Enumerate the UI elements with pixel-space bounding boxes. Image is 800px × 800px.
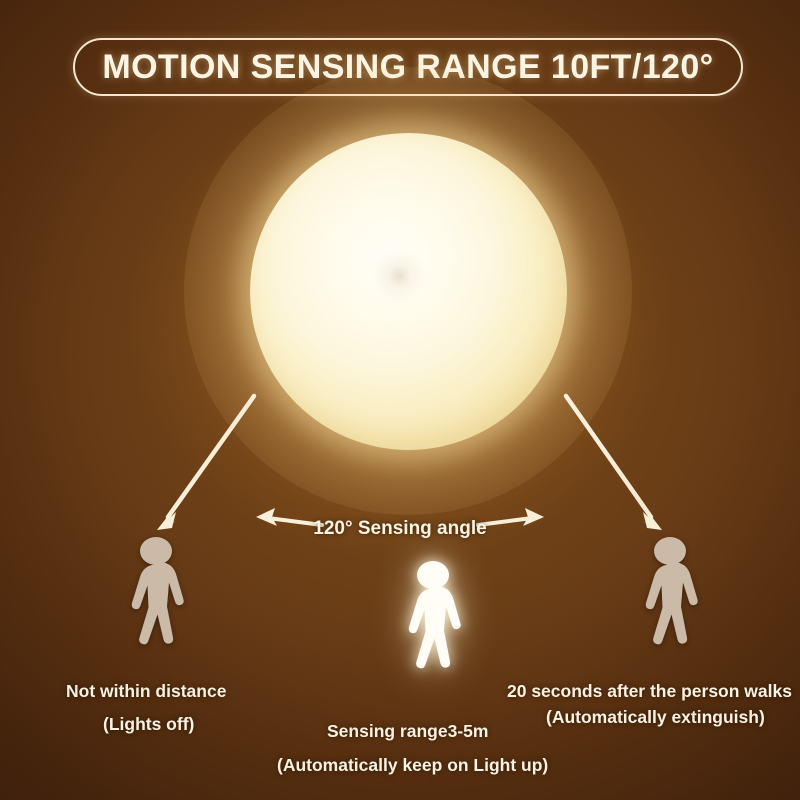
caption-after-leaving-secondary: (Automatically extinguish) [546,707,765,728]
night-light-lamp [250,133,567,450]
walking-person-icon [118,534,198,662]
banner-title-text: MOTION SENSING RANGE 10FT/120° [102,48,713,87]
arrow-down-left-icon [157,396,254,530]
walking-person-icon [395,558,475,686]
caption-after-leaving-primary: 20 seconds after the person walks [507,681,792,702]
caption-in-range-secondary: (Automatically keep on Light up) [277,755,548,776]
caption-out-of-range-secondary: (Lights off) [103,714,194,735]
scenario-figure-in-range [395,558,475,691]
title-banner: MOTION SENSING RANGE 10FT/120° [73,38,743,96]
caption-out-of-range-primary: Not within distance [66,681,226,702]
sensing-angle-label: 120° Sensing angle [300,518,500,540]
product-marketing-image: MOTION SENSING RANGE 10FT/120° [0,0,800,800]
scenario-figure-after-leaving [632,534,712,667]
caption-in-range-primary: Sensing range3-5m [327,721,488,742]
arrow-down-right-icon [566,396,662,530]
scenario-figure-out-of-range [118,534,198,667]
walking-person-icon [632,534,712,662]
